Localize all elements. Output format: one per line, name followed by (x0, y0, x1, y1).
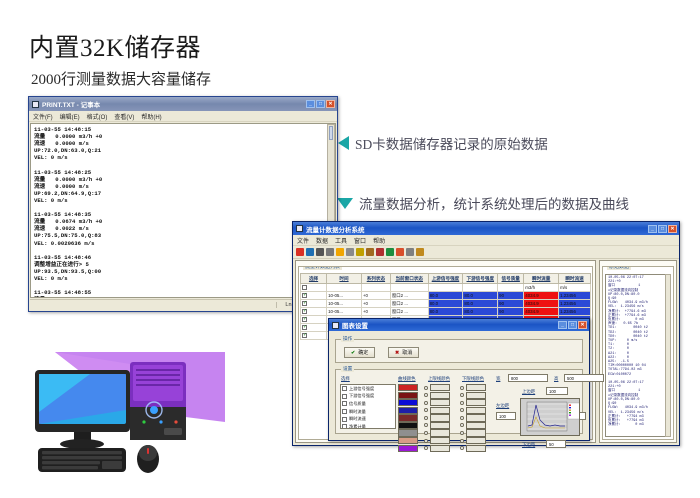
notepad-titlebar[interactable]: PRINT.TXT - 记事本 _ □ ✕ (29, 97, 337, 111)
column-header[interactable]: 信号质量 (498, 274, 524, 284)
dialog-window-controls[interactable]: _ □ ✕ (558, 321, 587, 329)
mainwin-title: 流量计数据分析系统 (306, 224, 645, 234)
refresh-icon[interactable] (336, 248, 344, 256)
upper-limit-color-swatch[interactable] (430, 414, 450, 421)
margin-top-label: 上边距 (522, 389, 535, 395)
notepad-menubar[interactable]: 文件(F) 编辑(E) 格式(O) 查看(V) 帮助(H) (29, 111, 337, 122)
lower-limit-radio[interactable] (460, 393, 464, 397)
page-subtitle: 2000行测量数据大容量储存 (31, 68, 211, 89)
cell-series-status: +0 (361, 300, 390, 308)
column-header[interactable]: 选择 (301, 274, 327, 284)
chart-icon[interactable] (396, 248, 404, 256)
column-header[interactable]: 瞬时流量 (524, 274, 559, 284)
annotation-sd-card: SD卡数据储存器记录的原始数据 (338, 133, 548, 153)
cell-window-status: 窗口2 ... (390, 292, 428, 300)
column-header[interactable]: 下游信号强度 (463, 274, 498, 284)
upper-limit-radio[interactable] (424, 408, 428, 412)
chart-preview (520, 398, 580, 436)
menu-item-data[interactable]: 数据 (316, 236, 328, 245)
action-fieldset: 操作 ✔ 确定 ✖ 取消 (335, 339, 583, 363)
mainwin-menubar[interactable]: 文件 数据 工具 窗口 帮助 (293, 235, 679, 246)
delete-icon[interactable] (296, 248, 304, 256)
notepad-title: PRINT.TXT - 记事本 (42, 99, 303, 109)
series-label: 下游信号强度 (349, 393, 374, 399)
page-title: 内置32K储存器 (29, 28, 201, 64)
series-checkbox[interactable] (342, 417, 347, 422)
curve-color-swatch[interactable] (398, 437, 418, 444)
height-input[interactable]: 500 (564, 374, 604, 382)
raw-data-panel: 原始数据 10-05-06 22:07:17 221:+0 窗口 1 ☑记录数据… (599, 260, 677, 443)
action-group-label: 操作 (341, 336, 354, 342)
cell-window-status: 窗口2 ... (390, 300, 428, 308)
cell-downstream-strength: 80.0 (463, 300, 498, 308)
cell-instant-flow: 4034.9 (524, 308, 559, 316)
upper-limit-row[interactable] (424, 429, 456, 436)
clock-icon[interactable] (406, 248, 414, 256)
scrollbar-thumb[interactable] (329, 126, 333, 140)
lower-limit-row[interactable] (460, 392, 492, 399)
row-checkbox[interactable] (302, 325, 307, 330)
start-icon[interactable] (386, 248, 394, 256)
unit-cell: m3/h (524, 284, 559, 292)
lower-limit-color-swatch[interactable] (466, 429, 486, 436)
upper-limit-radio[interactable] (424, 416, 428, 420)
cell-instant-flow: 4034.9 (524, 292, 559, 300)
curve-color-swatch[interactable] (398, 422, 418, 429)
width-input[interactable]: 800 (508, 374, 548, 382)
lower-limit-color-swatch[interactable] (466, 384, 486, 391)
table-unit-row: m3/hm/s (301, 284, 591, 292)
pc-illustration (30, 352, 225, 487)
column-header[interactable]: 瞬时流速 (559, 274, 591, 284)
unit-cell (428, 284, 463, 292)
lower-limit-color-swatch[interactable] (466, 399, 486, 406)
cell-time: 10-05... (327, 292, 362, 300)
ok-button[interactable]: ✔ 确定 (344, 347, 375, 358)
menu-item-help[interactable]: 帮助(H) (141, 112, 161, 121)
row-select-checkbox-cell[interactable] (301, 308, 327, 316)
lower-limit-row[interactable] (460, 437, 492, 444)
minimize-button[interactable]: _ (558, 321, 567, 329)
upper-limit-color-swatch[interactable] (430, 384, 450, 391)
menu-item-file[interactable]: 文件(F) (33, 112, 53, 121)
notepad-content: 11-03-55 14:48:15 流量 0.0000 m3/h +0 流速 0… (31, 124, 335, 298)
row-checkbox[interactable] (302, 333, 307, 338)
curve-color-swatch[interactable] (398, 407, 418, 414)
notepad-icon (32, 101, 39, 108)
cell-time: 10-05... (327, 300, 362, 308)
lower-limit-row[interactable] (460, 414, 492, 421)
notepad-statusbar: Ln 1, Col 1 (30, 299, 336, 310)
cell-instant-velocity: 1.23456 (559, 292, 591, 300)
dialog-titlebar[interactable]: 图表设置 _ □ ✕ (329, 319, 589, 331)
lower-limit-radio[interactable] (460, 401, 464, 405)
col-curve-label: 曲线颜色 (398, 376, 416, 382)
table-row[interactable]: 10-05...+0窗口2 ...80.080.0904034.91.23456 (301, 308, 591, 316)
lower-limit-color-swatch[interactable] (466, 392, 486, 399)
mainwin-titlebar[interactable]: 流量计数据分析系统 _ □ ✕ (293, 222, 679, 235)
curve-color-column[interactable] (398, 384, 420, 452)
series-list-item[interactable]: 净累计量 (341, 423, 395, 429)
upper-limit-radio[interactable] (424, 401, 428, 405)
export-icon[interactable] (356, 248, 364, 256)
raw-data-scrollbar[interactable] (665, 274, 671, 437)
unit-cell (463, 284, 498, 292)
unit-cell (390, 284, 428, 292)
column-header[interactable]: 上游信号强度 (428, 274, 463, 284)
series-list-item[interactable]: 下游信号强度 (341, 393, 395, 401)
series-label: 信号质量 (349, 401, 366, 407)
annotation-text: 流量数据分析，统计系统处理后的数据及曲线 (359, 193, 629, 213)
menu-item-tools[interactable]: 工具 (335, 236, 347, 245)
chart-settings-dialog[interactable]: 图表设置 _ □ ✕ 操作 ✔ 确定 ✖ 取消 设置 选择 曲线颜色 上限线颜色 (328, 318, 590, 441)
link-icon[interactable] (346, 248, 354, 256)
series-list-item[interactable]: 信号质量 (341, 400, 395, 408)
margin-bottom-label: 下边距 (522, 442, 535, 448)
cell-downstream-strength: 80.0 (463, 292, 498, 300)
upper-limit-color-column[interactable] (424, 384, 456, 452)
raw-data-group: 原始数据 10-05-06 22:07:17 221:+0 窗口 1 ☑记录数据… (602, 266, 674, 440)
lower-limit-radio[interactable] (460, 431, 464, 435)
menu-item-window[interactable]: 窗口 (354, 236, 366, 245)
lower-limit-row[interactable] (460, 429, 492, 436)
dialog-body: 操作 ✔ 确定 ✖ 取消 设置 选择 曲线颜色 上限线颜色 下限线颜色 上游信号… (331, 333, 587, 438)
lower-limit-radio[interactable] (460, 423, 464, 427)
margin-top-input[interactable]: 100 (546, 387, 568, 395)
row-checkbox[interactable] (302, 309, 307, 314)
upper-limit-radio[interactable] (424, 431, 428, 435)
cancel-label: 取消 (402, 349, 412, 356)
lower-limit-row[interactable] (460, 445, 492, 452)
upper-limit-color-swatch[interactable] (430, 437, 450, 444)
select-all-checkbox[interactable] (302, 285, 307, 290)
upper-limit-color-swatch[interactable] (430, 407, 450, 414)
cell-instant-velocity: 1.23456 (559, 300, 591, 308)
upper-limit-row[interactable] (424, 407, 456, 414)
row-checkbox[interactable] (302, 293, 307, 298)
upper-limit-row[interactable] (424, 445, 456, 452)
lower-limit-row[interactable] (460, 422, 492, 429)
unit-cell (498, 284, 524, 292)
settings-fieldset: 设置 选择 曲线颜色 上限线颜色 下限线颜色 上游信号强度下游信号强度信号质量瞬… (335, 369, 583, 434)
upper-limit-row[interactable] (424, 422, 456, 429)
series-label: 净累计量 (349, 424, 366, 429)
row-select-checkbox-cell[interactable] (301, 300, 327, 308)
margin-left-input[interactable]: 100 (496, 412, 516, 420)
annotation-text: SD卡数据储存器记录的原始数据 (355, 133, 548, 153)
unit-cell (361, 284, 390, 292)
maximize-button[interactable]: □ (316, 100, 325, 108)
upper-limit-color-swatch[interactable] (430, 429, 450, 436)
cell-series-status: +0 (361, 292, 390, 300)
close-button[interactable]: ✕ (668, 225, 677, 233)
table-row[interactable]: 10-05...+0窗口2 ...80.080.0904034.91.23456 (301, 292, 591, 300)
maximize-button[interactable]: □ (658, 225, 667, 233)
series-checkbox[interactable] (342, 386, 347, 391)
upper-limit-color-swatch[interactable] (430, 392, 450, 399)
data-list-group-label: 流量计数据列表 (303, 266, 342, 270)
cell-downstream-strength: 80.0 (463, 308, 498, 316)
settings-group-label: 设置 (341, 366, 354, 372)
lower-limit-color-swatch[interactable] (466, 437, 486, 444)
mainwin-toolbar[interactable] (293, 246, 679, 259)
print-icon[interactable] (316, 248, 324, 256)
series-list-item[interactable]: 瞬时流量 (341, 408, 395, 416)
margin-left-label: 左边距 (496, 403, 509, 409)
curve-color-swatch[interactable] (398, 392, 418, 399)
series-checkbox[interactable] (342, 401, 347, 406)
upper-limit-radio[interactable] (424, 439, 428, 443)
col-select-label: 选择 (341, 376, 350, 382)
upper-limit-row[interactable] (424, 392, 456, 399)
curve-color-swatch[interactable] (398, 384, 418, 391)
cell-series-status: +0 (361, 308, 390, 316)
lower-limit-radio[interactable] (460, 408, 464, 412)
pc-illustration-svg (30, 352, 225, 487)
upper-limit-row[interactable] (424, 437, 456, 444)
upper-limit-row[interactable] (424, 414, 456, 421)
series-list-item[interactable]: 瞬时流速 (341, 415, 395, 423)
series-checkbox[interactable] (342, 394, 347, 399)
close-button[interactable]: ✕ (578, 321, 587, 329)
unit-cell (327, 284, 362, 292)
lower-limit-color-swatch[interactable] (466, 445, 486, 452)
row-select-checkbox-cell[interactable] (301, 332, 327, 340)
cell-signal-quality: 90 (498, 300, 524, 308)
lower-limit-radio[interactable] (460, 439, 464, 443)
lower-limit-radio[interactable] (460, 386, 464, 390)
row-select-checkbox-cell[interactable] (301, 292, 327, 300)
menu-item-file[interactable]: 文件 (297, 236, 309, 245)
lower-limit-color-swatch[interactable] (466, 422, 486, 429)
save-icon[interactable] (306, 248, 314, 256)
series-checkbox-list[interactable]: 上游信号强度下游信号强度信号质量瞬时流量瞬时流速净累计量正累计量负累计量瞬时声速 (340, 384, 396, 429)
cell-time: 10-05... (327, 308, 362, 316)
chart-preview-svg (521, 399, 580, 436)
col-upper-label: 上限线颜色 (428, 376, 450, 382)
minimize-button[interactable]: _ (648, 225, 657, 233)
curve-color-swatch[interactable] (398, 445, 418, 452)
lower-limit-radio[interactable] (460, 446, 464, 450)
app-icon (296, 225, 303, 232)
import-icon[interactable] (366, 248, 374, 256)
cell-window-status: 窗口2 ... (390, 308, 428, 316)
upper-limit-radio[interactable] (424, 386, 428, 390)
row-select-checkbox-cell[interactable] (301, 316, 327, 324)
maximize-button[interactable]: □ (568, 321, 577, 329)
menu-item-format[interactable]: 格式(O) (87, 112, 108, 121)
height-label: 高 (554, 376, 558, 382)
cancel-button[interactable]: ✖ 取消 (388, 347, 419, 358)
series-label: 上游信号强度 (349, 386, 374, 392)
curve-color-swatch[interactable] (398, 429, 418, 436)
menu-item-edit[interactable]: 编辑(E) (60, 112, 80, 121)
check-icon: ✔ (351, 350, 355, 356)
curve-color-swatch[interactable] (398, 414, 418, 421)
lower-limit-row[interactable] (460, 399, 492, 406)
raw-data-content: 10-05-06 22:07:17 221:+0 窗口 1 ☑记录数据流向控制 … (606, 275, 670, 428)
row-checkbox[interactable] (302, 317, 307, 322)
cross-icon: ✖ (395, 350, 399, 356)
upper-limit-color-swatch[interactable] (430, 399, 450, 406)
series-label: 瞬时流速 (349, 416, 366, 422)
upper-limit-row[interactable] (424, 384, 456, 391)
stop-icon[interactable] (376, 248, 384, 256)
lower-limit-radio[interactable] (460, 416, 464, 420)
triangle-left-icon (338, 136, 349, 150)
chart-settings-icon (332, 322, 339, 329)
cell-upstream-strength: 80.0 (428, 308, 463, 316)
menu-item-help[interactable]: 帮助 (373, 236, 385, 245)
upper-limit-row[interactable] (424, 399, 456, 406)
notepad-text-area[interactable]: 11-03-55 14:48:15 流量 0.0000 m3/h +0 流速 0… (30, 123, 336, 298)
series-checkbox[interactable] (342, 409, 347, 414)
cell-instant-flow: 4034.9 (524, 300, 559, 308)
upper-limit-color-swatch[interactable] (430, 445, 450, 452)
series-list-item[interactable]: 上游信号强度 (341, 385, 395, 393)
unit-cell: m/s (559, 284, 591, 292)
cell-instant-velocity: 1.23456 (559, 308, 591, 316)
cell-upstream-strength: 80.0 (428, 292, 463, 300)
lower-limit-row[interactable] (460, 407, 492, 414)
curve-color-swatch[interactable] (398, 399, 418, 406)
margin-bottom-input[interactable]: 50 (546, 440, 566, 448)
mainwin-window-controls[interactable]: _ □ ✕ (648, 225, 677, 233)
column-header[interactable]: 时间 (327, 274, 362, 284)
row-select-checkbox-cell[interactable] (301, 324, 327, 332)
select-all-cell (301, 284, 327, 292)
dialog-title: 图表设置 (342, 320, 555, 330)
grid-icon[interactable] (416, 248, 424, 256)
column-header[interactable]: 当前窗口状态 (390, 274, 428, 284)
lower-limit-color-swatch[interactable] (466, 407, 486, 414)
series-label: 瞬时流量 (349, 409, 366, 415)
ok-label: 确定 (358, 349, 368, 356)
cell-upstream-strength: 80.0 (428, 300, 463, 308)
lower-limit-row[interactable] (460, 384, 492, 391)
series-checkbox[interactable] (342, 424, 347, 429)
col-lower-label: 下限线颜色 (462, 376, 484, 382)
upper-limit-radio[interactable] (424, 393, 428, 397)
upper-limit-color-swatch[interactable] (430, 422, 450, 429)
row-checkbox[interactable] (302, 301, 307, 306)
close-button[interactable]: ✕ (326, 100, 335, 108)
table-row[interactable]: 10-05...+0窗口2 ...80.080.0904034.91.23456 (301, 300, 591, 308)
printer-setup-icon[interactable] (326, 248, 334, 256)
minimize-button[interactable]: _ (306, 100, 315, 108)
raw-data-textarea[interactable]: 10-05-06 22:07:17 221:+0 窗口 1 ☑记录数据流向控制 … (605, 274, 671, 437)
table-header-row: 选择时间系列状态当前窗口状态上游信号强度下游信号强度信号质量瞬时流量瞬时流速 (301, 274, 591, 284)
lower-limit-color-swatch[interactable] (466, 414, 486, 421)
annotation-analysis: 流量数据分析，统计系统处理后的数据及曲线 (337, 193, 629, 213)
triangle-down-icon (337, 198, 353, 209)
width-label: 宽 (496, 376, 500, 382)
cell-signal-quality: 90 (498, 308, 524, 316)
upper-limit-radio[interactable] (424, 423, 428, 427)
cell-signal-quality: 90 (498, 292, 524, 300)
upper-limit-radio[interactable] (424, 446, 428, 450)
column-header[interactable]: 系列状态 (361, 274, 390, 284)
lower-limit-color-column[interactable] (460, 384, 492, 452)
menu-item-view[interactable]: 查看(V) (114, 112, 134, 121)
notepad-window-controls[interactable]: _ □ ✕ (306, 100, 335, 108)
raw-data-group-label: 原始数据 (607, 266, 631, 270)
